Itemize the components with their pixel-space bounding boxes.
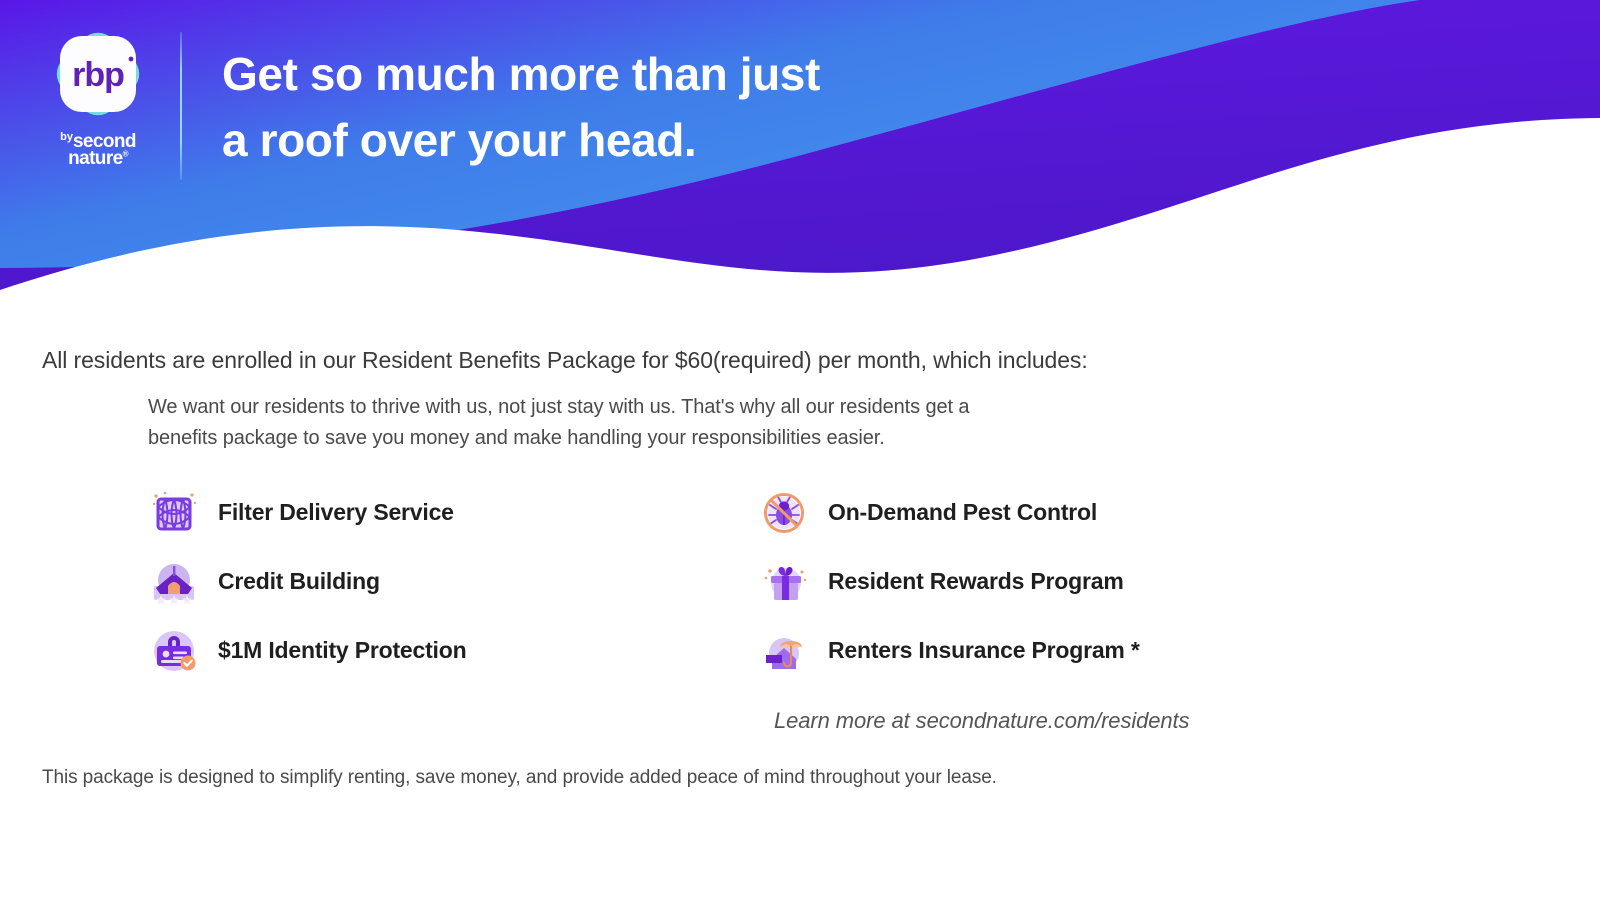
- benefit-item-renters-insurance: Renters Insurance Program *: [758, 616, 1378, 685]
- hero-banner: rbp bysecond nature® Get so much more th…: [0, 0, 1600, 330]
- headline-line-1: Get so much more than just: [222, 48, 820, 100]
- logo-subtitle: bysecond nature®: [38, 132, 158, 168]
- intro-text: All residents are enrolled in our Reside…: [42, 347, 1088, 374]
- benefit-label: On-Demand Pest Control: [828, 499, 1097, 526]
- logo-by-text: by: [60, 131, 73, 143]
- sub-copy: We want our residents to thrive with us,…: [148, 392, 1308, 454]
- umbrella-home-icon: [758, 625, 810, 677]
- footnote-text: This package is designed to simplify ren…: [42, 767, 997, 789]
- benefit-label: Resident Rewards Program: [828, 568, 1124, 595]
- benefit-label: Credit Building: [218, 568, 380, 595]
- benefit-label: Renters Insurance Program *: [828, 637, 1140, 664]
- page-title: Get so much more than just a roof over y…: [222, 42, 1222, 174]
- credit-badge-icon: [148, 556, 200, 608]
- rbp-badge-logo: rbp: [46, 22, 150, 126]
- benefit-item-identity-protection: $1M Identity Protection: [148, 616, 708, 685]
- logo-trademark: ®: [123, 150, 128, 159]
- benefit-label: $1M Identity Protection: [218, 637, 466, 664]
- no-pest-icon: [758, 487, 810, 539]
- benefit-item-resident-rewards: Resident Rewards Program: [758, 547, 1378, 616]
- benefits-column-left: Filter Delivery Service: [148, 478, 708, 685]
- benefit-item-credit-building: Credit Building: [148, 547, 708, 616]
- benefit-item-filter-delivery: Filter Delivery Service: [148, 478, 708, 547]
- learn-more-text[interactable]: Learn more at secondnature.com/residents: [774, 708, 1189, 734]
- header-divider: [180, 32, 182, 180]
- benefit-label: Filter Delivery Service: [218, 499, 454, 526]
- main-content: All residents are enrolled in our Reside…: [0, 330, 1600, 900]
- gift-icon: [758, 556, 810, 608]
- headline-line-2: a roof over your head.: [222, 108, 1222, 174]
- id-protection-icon: [148, 625, 200, 677]
- benefits-column-right: On-Demand Pest Control: [758, 478, 1378, 685]
- rbp-benefits-flyer: rbp bysecond nature® Get so much more th…: [0, 0, 1600, 900]
- logo-brand-line2: nature®: [38, 149, 158, 168]
- brand-logo: rbp bysecond nature®: [38, 22, 158, 182]
- sub-copy-line-1: We want our residents to thrive with us,…: [148, 392, 1308, 423]
- sub-copy-line-2: benefits package to save you money and m…: [148, 423, 1308, 454]
- svg-text:rbp: rbp: [72, 56, 124, 94]
- air-filter-icon: [148, 487, 200, 539]
- benefit-item-pest-control: On-Demand Pest Control: [758, 478, 1378, 547]
